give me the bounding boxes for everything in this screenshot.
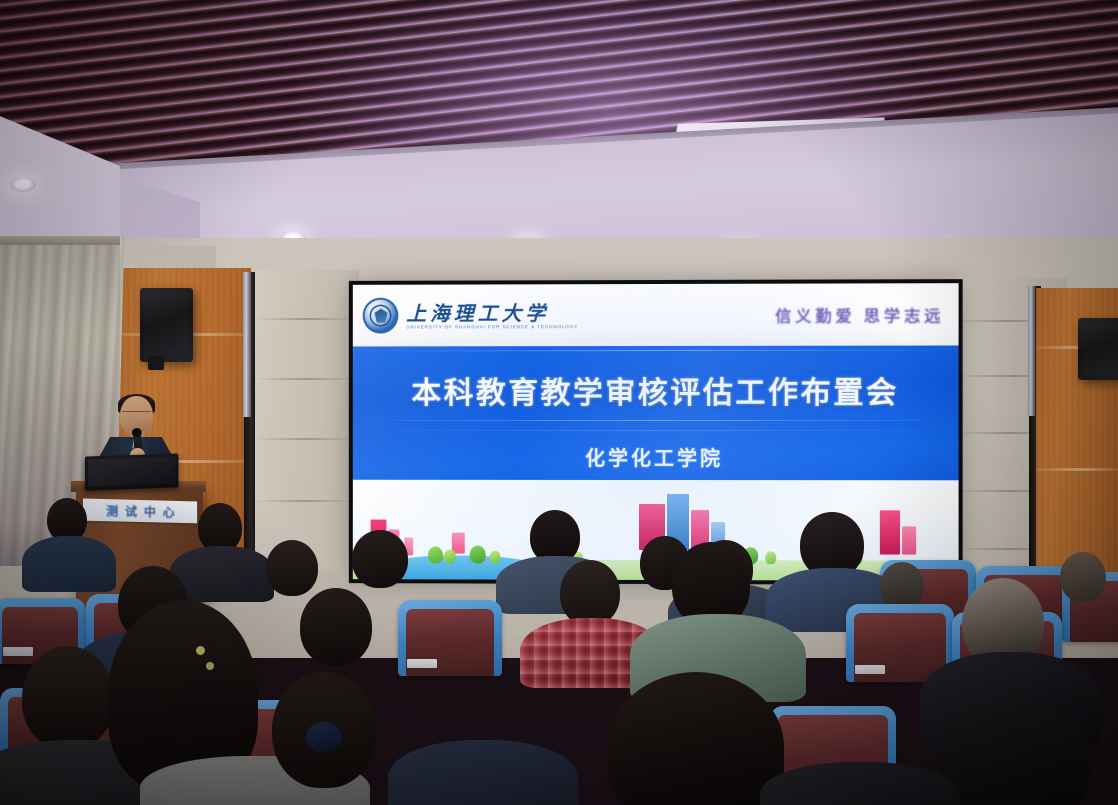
campus-illustration — [353, 480, 959, 581]
hair-tie-icon — [306, 722, 342, 752]
audience-shoulders — [388, 740, 578, 805]
slide-body: 本科教育教学审核评估工作布置会 化学化工学院 2023年4月4日 — [353, 346, 959, 581]
presentation-screen[interactable]: 上海理工大学 UNIVERSITY OF SHANGHAI FOR SCIENC… — [353, 283, 959, 581]
auditorium-seat — [0, 688, 118, 780]
curtain-rail — [0, 236, 120, 245]
conference-hall-photo: 上海理工大学 UNIVERSITY OF SHANGHAI FOR SCIENC… — [0, 0, 1118, 805]
podium-plaque-char: 测 — [106, 502, 118, 519]
audience-head — [22, 646, 114, 750]
wall-panel-midleft — [255, 270, 359, 570]
slide-subtitle: 化学化工学院 — [353, 442, 959, 471]
audience-shoulders — [760, 762, 960, 805]
audience-shoulders — [140, 756, 370, 805]
podium-plaque-char: 心 — [163, 503, 175, 520]
auditorium-seat — [770, 706, 896, 802]
university-logo: 上海理工大学 UNIVERSITY OF SHANGHAI FOR SCIENC… — [363, 297, 579, 333]
auditorium-seat — [218, 700, 342, 796]
university-name-cn: 上海理工大学 — [406, 305, 578, 325]
downlight-icon — [10, 177, 36, 192]
slide-header-band: 上海理工大学 UNIVERSITY OF SHANGHAI FOR SCIENC… — [353, 283, 959, 346]
podium-plaque-char: 中 — [144, 503, 156, 520]
wall-metal-strip-right — [1028, 286, 1035, 416]
university-name-en: UNIVERSITY OF SHANGHAI FOR SCIENCE & TEC… — [406, 326, 578, 331]
audience-head — [940, 700, 1090, 805]
university-motto: 信义勤爱 思学志远 — [775, 302, 944, 326]
laptop[interactable] — [85, 453, 178, 490]
audience-shoulders — [0, 740, 182, 805]
wall-metal-strip-left — [243, 272, 251, 417]
slide-title: 本科教育教学审核评估工作布置会 — [353, 368, 959, 412]
university-crest-icon — [363, 298, 399, 334]
podium-plaque-char: 试 — [125, 502, 137, 519]
wall-speaker-right — [1078, 318, 1118, 380]
audience-head — [272, 672, 376, 788]
audience-head — [608, 672, 784, 805]
hair-clip-icon — [206, 662, 214, 670]
audience-shoulders — [920, 652, 1100, 748]
podium-plaque: 测 试 中 心 — [83, 498, 197, 523]
presenter-glasses-icon — [122, 411, 151, 418]
wall-speaker-left — [140, 288, 193, 362]
